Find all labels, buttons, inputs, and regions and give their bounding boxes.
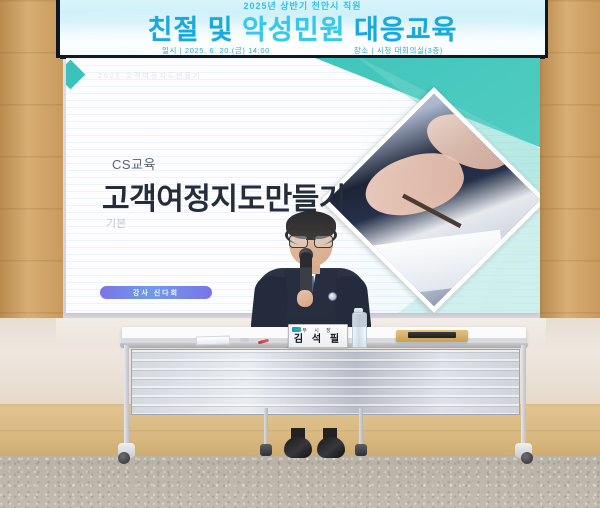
event-banner: 2025년 상반기 천안시 직원 친절 및 악성민원 대응교육 일시 | 202… xyxy=(60,0,545,57)
city-logo-icon xyxy=(292,327,301,332)
table-leg-right xyxy=(521,345,526,449)
desk-nameplate: 부 시 장 김 석 필 xyxy=(288,324,348,348)
glasses-icon xyxy=(289,235,333,246)
banner-title-part2: 악성민원 xyxy=(242,15,345,45)
speaker-shoe-left xyxy=(284,437,312,458)
banner-title-part1: 친절 및 xyxy=(148,15,243,45)
banner-title-part3: 대응교육 xyxy=(346,15,458,45)
table-leg-left xyxy=(124,345,129,449)
caster-wheel-left xyxy=(118,452,130,464)
banner-title: 친절 및 악성민원 대응교육 xyxy=(60,8,545,47)
desk-papers xyxy=(196,336,230,346)
slide-faint-header: 2025 고객여정지도만들기 xyxy=(98,71,201,81)
slide-note: 기본 xyxy=(106,215,126,231)
speaker-shoe-right xyxy=(317,437,345,458)
caster-wheel-right xyxy=(521,452,533,464)
table-inner-foot-right xyxy=(355,444,367,456)
desk-clip xyxy=(240,338,249,342)
carpet-floor xyxy=(0,456,600,508)
glasses-lens-left xyxy=(289,235,308,248)
wooden-tray-inner xyxy=(408,332,456,338)
nameplate-name: 김 석 필 xyxy=(294,334,342,345)
water-bottle-icon xyxy=(352,312,367,348)
slide-subtitle: CS교육 xyxy=(112,154,156,173)
instructor-badge: 강사 신다희 xyxy=(100,286,212,299)
conference-room-photo: 2025년 상반기 천안시 직원 친절 및 악성민원 대응교육 일시 | 202… xyxy=(0,0,600,508)
speaker-hand xyxy=(297,290,313,307)
table-modesty-panel xyxy=(131,349,520,415)
table-inner-foot-left xyxy=(260,444,272,456)
glasses-lens-right xyxy=(314,235,333,248)
